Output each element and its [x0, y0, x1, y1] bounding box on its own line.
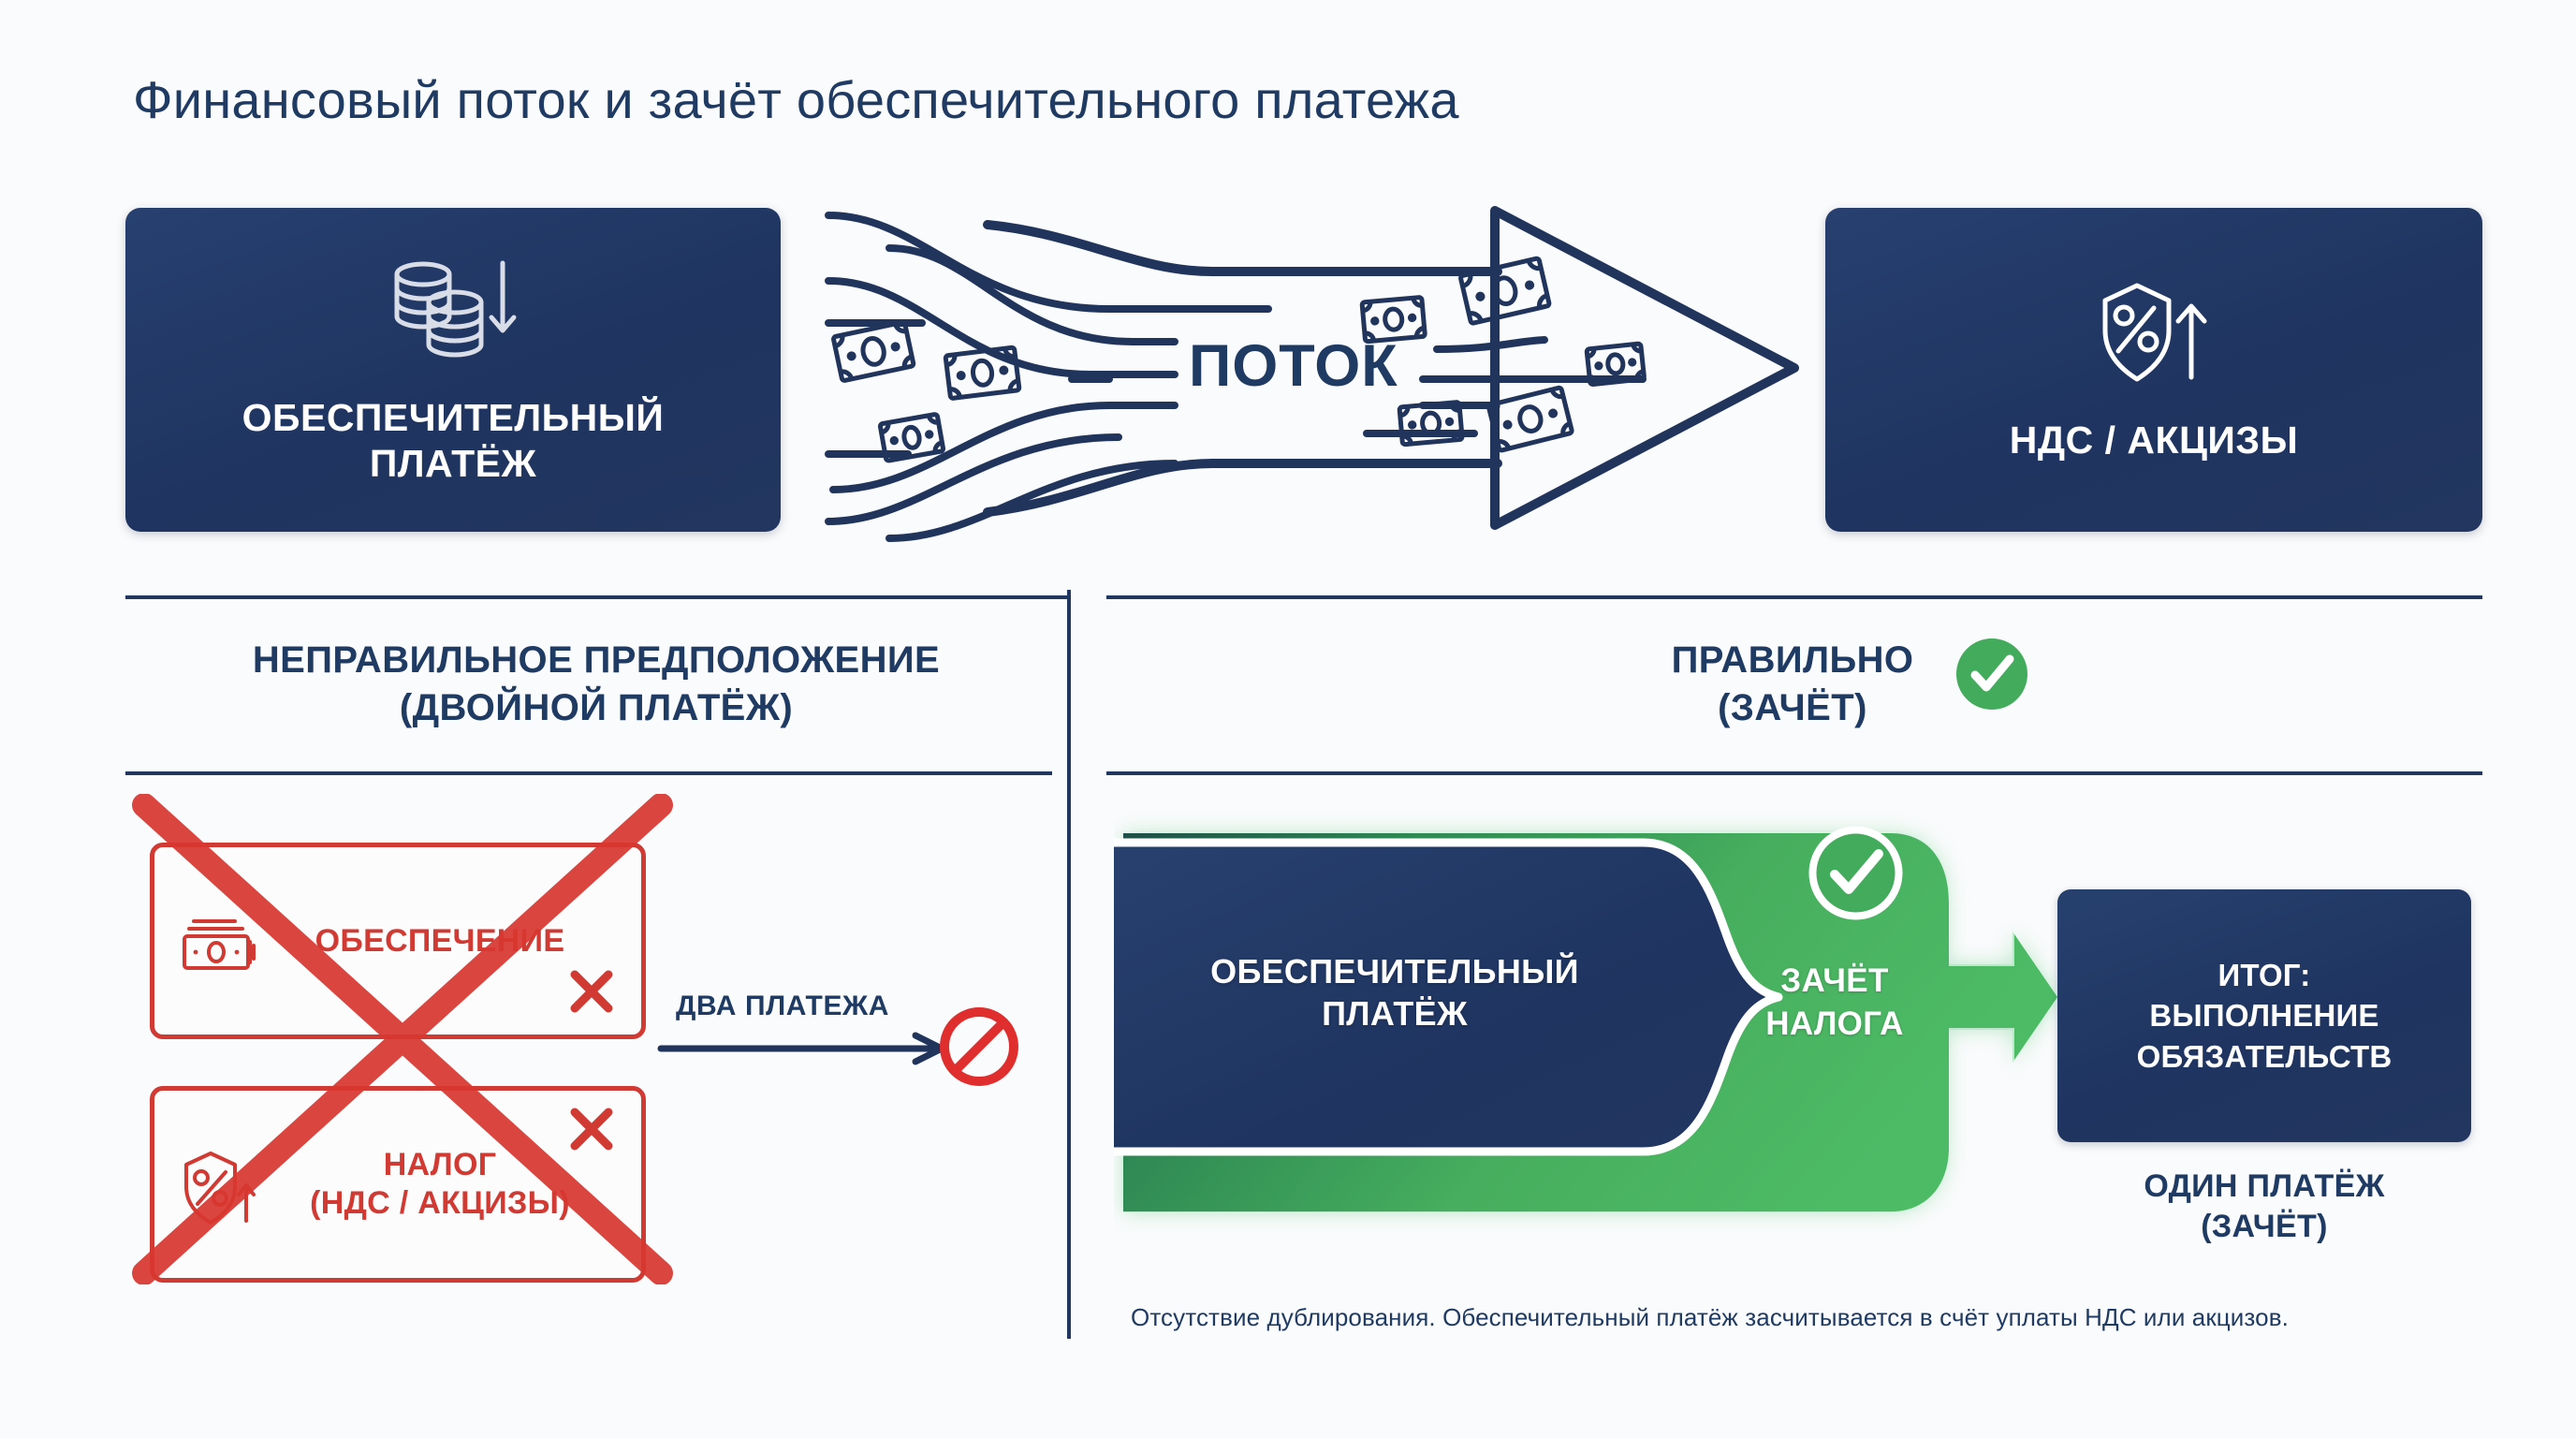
green-label-line-1: ЗАЧЁТ — [1694, 960, 1975, 1003]
divider-mid-left — [125, 771, 1052, 775]
arrow-right-icon — [655, 1030, 973, 1067]
double-payment-group: ОБЕСПЕЧЕНИЕ — [140, 805, 665, 1273]
green-check-circle-icon — [1954, 637, 2029, 712]
two-payments-label: ДВА ПЛАТЕЖА — [676, 990, 889, 1022]
cross-mark-icon — [566, 1104, 617, 1159]
security-payment-flow-label: ОБЕСПЕЧИТЕЛЬНЫЙ ПЛАТЁЖ — [1161, 950, 1629, 1034]
footnote-text: Отсутствие дублирования. Обеспечительный… — [1131, 1303, 2289, 1332]
navy-label-line-2: ПЛАТЁЖ — [1161, 992, 1629, 1034]
heading-line-2: (ЗАЧЁТ) — [1591, 684, 1994, 732]
tax-offset-label: ЗАЧЁТ НАЛОГА — [1694, 960, 1975, 1045]
coin-stack-down-arrow-icon — [383, 254, 523, 371]
tax-label-line-1: НАЛОГ — [384, 1147, 497, 1182]
label-line-1: ОБЕСПЕЧИТЕЛЬНЫЙ — [242, 395, 665, 440]
vat-excise-card-label: НДС / АКЦИЗЫ — [2010, 418, 2298, 462]
green-check-circle-icon — [1807, 824, 1905, 922]
divider-mid-right — [1106, 771, 2482, 775]
shield-percent-icon — [177, 1144, 257, 1225]
divider-top-left — [125, 595, 1067, 599]
single-payment-caption: ОДИН ПЛАТЁЖ (ЗАЧЁТ) — [2057, 1167, 2471, 1246]
banknote-stack-icon — [177, 901, 257, 981]
caption-line-1: ОДИН ПЛАТЁЖ — [2057, 1167, 2471, 1207]
heading-line-2: (ДВОЙНОЙ ПЛАТЁЖ) — [125, 684, 1067, 732]
navy-label-line-1: ОБЕСПЕЧИТЕЛЬНЫЙ — [1161, 950, 1629, 992]
divider-vertical — [1067, 590, 1071, 1339]
caption-line-2: (ЗАЧЁТ) — [2057, 1207, 2471, 1247]
infographic-canvas: Финансовый поток и зачёт обеспечительног… — [0, 0, 2576, 1438]
flow-label: ПОТОК — [1189, 332, 1398, 400]
result-line-1: ИТОГ: — [2137, 955, 2393, 996]
cross-mark-icon — [566, 966, 617, 1021]
shield-percent-up-arrow-icon — [2088, 276, 2219, 393]
heading-line-1: НЕПРАВИЛЬНОЕ ПРЕДПОЛОЖЕНИЕ — [125, 637, 1067, 684]
result-line-2: ВЫПОЛНЕНИЕ — [2137, 995, 2393, 1036]
divider-top-right — [1106, 595, 2482, 599]
security-box: ОБЕСПЕЧЕНИЕ — [150, 843, 646, 1039]
tax-label-line-2: (НДС / АКЦИЗЫ) — [310, 1185, 570, 1221]
correct-section-heading: ПРАВИЛЬНО (ЗАЧЁТ) — [1591, 637, 1994, 732]
result-card: ИТОГ: ВЫПОЛНЕНИЕ ОБЯЗАТЕЛЬСТВ — [2057, 889, 2471, 1142]
page-title: Финансовый поток и зачёт обеспечительног… — [133, 69, 1459, 130]
result-line-3: ОБЯЗАТЕЛЬСТВ — [2137, 1036, 2393, 1078]
result-card-label: ИТОГ: ВЫПОЛНЕНИЕ ОБЯЗАТЕЛЬСТВ — [2137, 955, 2393, 1078]
label-line-2: ПЛАТЁЖ — [242, 441, 665, 486]
wrong-section-heading: НЕПРАВИЛЬНОЕ ПРЕДПОЛОЖЕНИЕ (ДВОЙНОЙ ПЛАТ… — [125, 637, 1067, 732]
green-label-line-2: НАЛОГА — [1694, 1003, 1975, 1046]
tax-box: НАЛОГ (НДС / АКЦИЗЫ) — [150, 1086, 646, 1283]
prohibition-sign-icon — [936, 1004, 1022, 1090]
heading-line-1: ПРАВИЛЬНО — [1591, 637, 1994, 684]
security-payment-card-label: ОБЕСПЕЧИТЕЛЬНЫЙ ПЛАТЁЖ — [242, 395, 665, 486]
vat-excise-card: НДС / АКЦИЗЫ — [1825, 208, 2482, 532]
security-payment-card: ОБЕСПЕЧИТЕЛЬНЫЙ ПЛАТЁЖ — [125, 208, 781, 532]
security-box-label: ОБЕСПЕЧЕНИЕ — [257, 922, 641, 961]
